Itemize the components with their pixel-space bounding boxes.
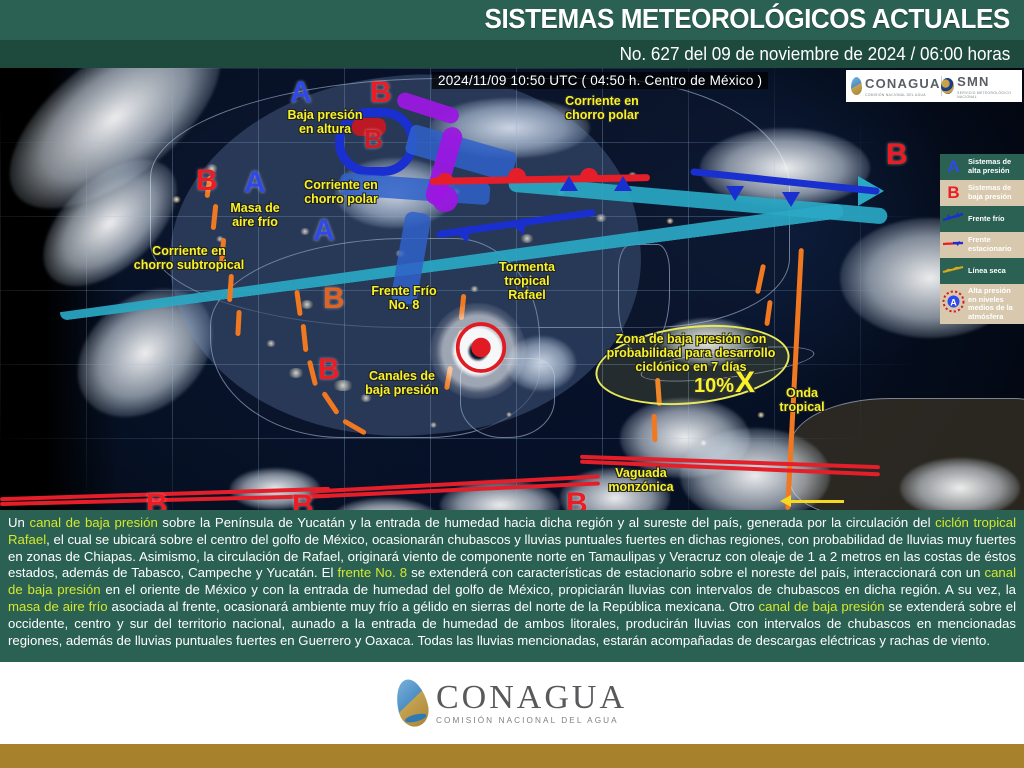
- legend-item-high-pressure[interactable]: A Sistemas de alta presión: [940, 154, 1024, 180]
- cyclone-probability-marker: X: [735, 368, 755, 398]
- footer-brand: CONAGUA: [436, 681, 627, 715]
- footer-gold-band: [0, 744, 1024, 768]
- legend-label: Frente estacionario: [968, 236, 1021, 253]
- cold-front-barb-icon: [614, 176, 632, 191]
- legend-item-cold-front[interactable]: Frente frío: [940, 206, 1024, 232]
- legend-item-low-pressure[interactable]: B Sistemas de baja presión: [940, 180, 1024, 206]
- map-timestamp: 2024/11/09 10:50 UTC ( 04:50 h. Centro d…: [432, 72, 768, 89]
- svg-text:A: A: [950, 298, 957, 308]
- smn-tagline: SERVICIO METEOROLÓGICO NACIONAL: [957, 91, 1017, 99]
- high-pressure-symbol-A: A: [313, 214, 335, 248]
- hurricane-glyph-icon: ⦿: [454, 323, 508, 377]
- mid-level-high-icon: A: [942, 290, 965, 318]
- label-corriente-chorro-subtropical: Corriente en chorro subtropical: [124, 244, 254, 272]
- cold-front-barb-icon: [560, 176, 578, 191]
- bulletin-number: No. 627 del 09 de noviembre de 2024 / 06…: [619, 44, 1010, 65]
- low-pressure-symbol-B: B: [370, 76, 392, 110]
- low-pressure-B-icon: B: [942, 183, 965, 203]
- low-pressure-symbol-B: B: [292, 489, 314, 510]
- satellite-weather-map[interactable]: ⦿ Zona de baja presión con probabilidad …: [0, 68, 1024, 510]
- cyclone-probability-percent: 10%: [694, 375, 734, 398]
- label-vaguada-monzonica: Vaguada monzónica: [596, 466, 686, 494]
- legend-label: Alta presión en niveles medios de la atm…: [968, 287, 1021, 321]
- legend-item-dry-line[interactable]: Línea seca: [940, 258, 1024, 284]
- legend-label: Línea seca: [968, 267, 1006, 276]
- weather-bulletin-page: SISTEMAS METEOROLÓGICOS ACTUALES No. 627…: [0, 0, 1024, 768]
- conagua-logo: CONAGUA COMISIÓN NACIONAL DEL AGUA: [851, 75, 941, 97]
- label-baja-presion-en-altura: Baja presión en altura: [270, 108, 380, 136]
- cold-front-barb-icon: [782, 192, 800, 207]
- cold-front-barb-icon: [726, 186, 744, 201]
- cyclone-probability-text: Zona de baja presión con probabilidad pa…: [596, 332, 786, 374]
- occluded-front-node: [432, 186, 458, 212]
- low-pressure-symbol-B: B: [196, 164, 218, 198]
- label-onda-tropical: Onda tropical: [766, 386, 838, 414]
- label-frente-frio-no-8: Frente Frío No. 8: [358, 284, 450, 312]
- legend-label: Sistemas de alta presión: [968, 158, 1021, 175]
- conagua-drop-icon: [851, 77, 862, 95]
- high-pressure-symbol-A: A: [290, 76, 312, 110]
- conagua-wordmark: CONAGUA: [865, 76, 941, 91]
- label-tormenta-tropical-rafael: Tormenta tropical Rafael: [486, 260, 568, 302]
- smn-spiral-icon: [941, 78, 954, 94]
- label-canales-de-baja-presion: Canales de baja presión: [352, 369, 452, 397]
- legend-label: Frente frío: [968, 215, 1005, 224]
- high-pressure-symbol-A: A: [244, 166, 266, 200]
- smn-wordmark: SMN: [957, 74, 990, 89]
- cold-front-icon: [942, 209, 965, 229]
- low-pressure-symbol-B: B: [886, 138, 908, 172]
- dry-line-icon: [942, 261, 965, 281]
- low-pressure-symbol-B: B: [323, 282, 345, 316]
- tropical-wave-arrow-icon: [790, 500, 844, 503]
- footer: CONAGUA COMISIÓN NACIONAL DEL AGUA: [0, 662, 1024, 744]
- conagua-tagline: COMISIÓN NACIONAL DEL AGUA: [865, 93, 941, 97]
- footer-conagua-logo: CONAGUA COMISIÓN NACIONAL DEL AGUA: [397, 679, 627, 727]
- legend-item-mid-level-high[interactable]: A Alta presión en niveles medios de la a…: [940, 284, 1024, 324]
- label-corriente-chorro-polar: Corriente en chorro polar: [286, 178, 396, 206]
- map-legend[interactable]: A Sistemas de alta presión B Sistemas de…: [940, 154, 1024, 324]
- label-masa-de-aire-frio: Masa de aire frío: [210, 201, 300, 229]
- stationary-front-icon: [942, 235, 965, 255]
- high-pressure-A-icon: A: [942, 157, 965, 177]
- low-pressure-symbol-B: B: [146, 488, 168, 510]
- forecast-description: Un canal de baja presión sobre la Peníns…: [0, 510, 1024, 662]
- low-pressure-symbol-B: B: [318, 353, 340, 387]
- legend-label: Sistemas de baja presión: [968, 184, 1021, 201]
- forecast-paragraph: Un canal de baja presión sobre la Peníns…: [8, 515, 1016, 648]
- label-corriente-chorro-polar-ne: Corriente en chorro polar: [552, 94, 652, 122]
- conagua-drop-icon: [392, 676, 433, 730]
- page-title: SISTEMAS METEOROLÓGICOS ACTUALES: [485, 3, 1010, 35]
- agency-logo-strip: CONAGUA COMISIÓN NACIONAL DEL AGUA SMN S…: [846, 70, 1022, 102]
- legend-item-stationary-front[interactable]: Frente estacionario: [940, 232, 1024, 258]
- footer-tagline: COMISIÓN NACIONAL DEL AGUA: [436, 716, 627, 725]
- smn-logo: SMN SERVICIO METEOROLÓGICO NACIONAL: [941, 73, 1017, 99]
- low-pressure-symbol-B: B: [566, 487, 588, 510]
